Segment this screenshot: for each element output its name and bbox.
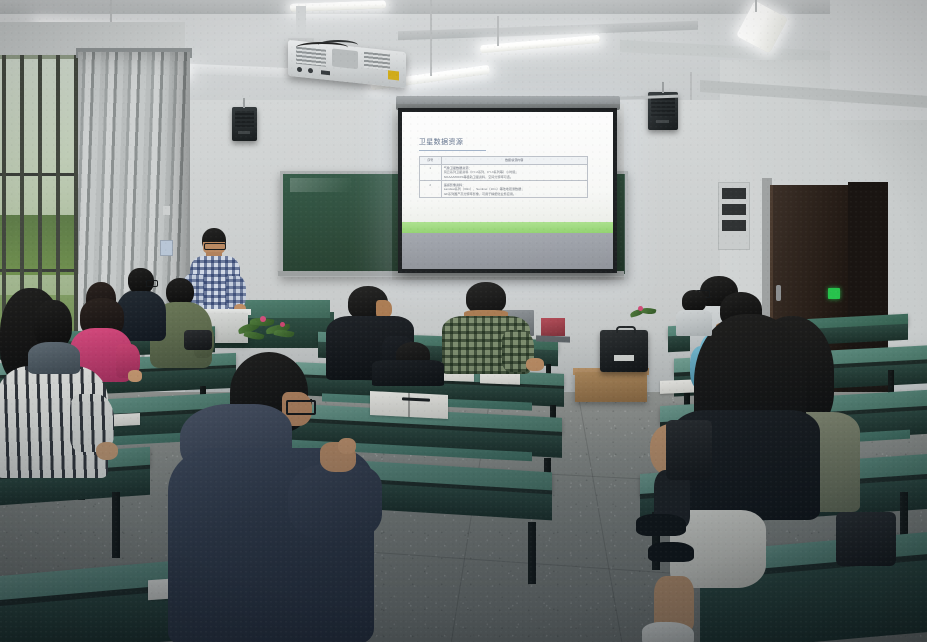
person-hair xyxy=(34,300,72,348)
light-rod-3 xyxy=(497,16,499,46)
light-rod-5 xyxy=(755,0,757,12)
person-torso xyxy=(676,310,712,336)
wall-switch-plate[interactable] xyxy=(160,240,173,256)
audience-person-left-back xyxy=(28,300,80,370)
vent-slat xyxy=(722,204,746,215)
speaker-bracket-right xyxy=(662,82,664,93)
person-torso xyxy=(372,360,444,386)
wall-outlet[interactable] xyxy=(163,206,170,215)
person-head xyxy=(682,290,706,312)
person-shoe-dark xyxy=(636,514,686,536)
person-hand xyxy=(128,370,142,382)
backpack-right xyxy=(666,420,712,480)
wall-speaker-left xyxy=(232,107,257,141)
classroom-photo: 卫星数据资源 序号 数据/资源内容 1 气象卫星数据资源： 风云系列卫星资料（F… xyxy=(0,0,927,642)
laptop-base xyxy=(536,335,570,342)
ceiling-beam xyxy=(0,0,927,14)
equipment-case-handle xyxy=(616,326,636,333)
slide-row-content: 气象卫星数据资源： 风云系列卫星资料（FY-2系列、FY-3系列等）小时级； N… xyxy=(441,164,587,181)
person-shoe xyxy=(642,622,694,642)
slide-row-line: Landsat系列（30m）、Sentinel（10m）等陆地观测数据； xyxy=(444,187,525,191)
person-fist xyxy=(338,438,356,454)
desk-leg xyxy=(112,492,120,558)
projector-cable-2 xyxy=(318,40,358,50)
slide-table: 序号 数据/资源内容 1 气象卫星数据资源： 风云系列卫星资料（FY-2系列、F… xyxy=(419,156,588,198)
audience-person-right-far xyxy=(676,290,712,334)
projector-mount-pole xyxy=(296,6,306,40)
slide-table-header-index: 序号 xyxy=(419,156,441,164)
slide-title-underline xyxy=(419,150,487,151)
slide-accent-band xyxy=(402,222,613,233)
audience-person-center-far xyxy=(372,360,444,400)
person-hand xyxy=(526,358,544,371)
laptop-screen xyxy=(541,318,565,336)
vent-slat xyxy=(722,188,746,199)
backpack-right-2 xyxy=(836,512,896,566)
slide-row-line: 风云系列卫星资料（FY-2系列、FY-3系列等）小时级； xyxy=(444,170,519,174)
person-glasses-icon xyxy=(146,280,158,287)
speaker-bracket-left xyxy=(243,98,245,108)
light-rod-2 xyxy=(430,0,432,76)
audience-person-a8 xyxy=(442,282,530,372)
slide-footer-band xyxy=(402,233,613,269)
slide-row-index: 2 xyxy=(419,181,441,198)
wooden-step-platform xyxy=(575,372,647,402)
slide-row-line: NOAA/MODIS等极轨卫星资料，空间分辨率可选。 xyxy=(444,175,513,179)
person-hand xyxy=(96,442,118,460)
potted-plant-right xyxy=(630,306,656,322)
bag-left xyxy=(184,330,212,350)
slide-table-row: 2 遥感影像资料： Landsat系列（30m）、Sentinel（10m）等陆… xyxy=(419,181,587,198)
slide-table-row: 1 气象卫星数据资源： 风云系列卫星资料（FY-2系列、FY-3系列等）小时级；… xyxy=(419,164,587,181)
black-equipment-case xyxy=(600,330,648,372)
presenter-glasses-icon xyxy=(204,243,226,250)
emergency-exit-sign-icon xyxy=(828,288,840,299)
person-torso xyxy=(28,342,80,374)
slide-title: 卫星数据资源 xyxy=(419,137,463,147)
slide-row-line: GF系列国产高分辨率影像，可用于精细化业务应用。 xyxy=(444,192,516,196)
vent-slat xyxy=(722,220,746,231)
person-glasses-icon xyxy=(286,400,316,415)
equipment-case-label xyxy=(614,355,634,361)
slide-row-content: 遥感影像资料： Landsat系列（30m）、Sentinel（10m）等陆地观… xyxy=(441,181,587,198)
desk-leg xyxy=(528,522,536,584)
wall-air-vent xyxy=(718,182,750,250)
person-shoe-right xyxy=(648,542,694,562)
projection-screen: 卫星数据资源 序号 数据/资源内容 1 气象卫星数据资源： 风云系列卫星资料（F… xyxy=(398,108,617,273)
slide-table-header-content: 数据/资源内容 xyxy=(441,156,587,164)
slide-row-index: 1 xyxy=(419,164,441,181)
person-arm xyxy=(288,464,382,540)
potted-plant xyxy=(236,312,300,342)
